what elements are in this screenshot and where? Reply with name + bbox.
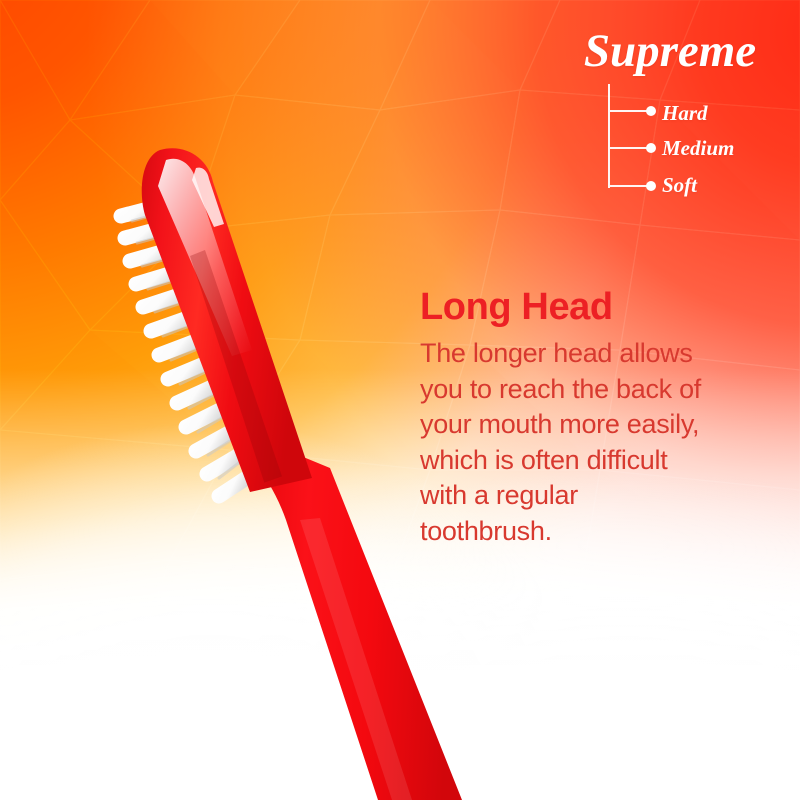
poster-canvas: Supreme Hard Medium Soft Long Head The l… [0, 0, 800, 800]
bristle-firmness-legend: Hard Medium Soft [596, 78, 800, 206]
legend-item-medium: Medium [662, 138, 734, 159]
feature-body-line: The longer head allows [420, 336, 750, 372]
feature-body-line: you to reach the back of [420, 372, 750, 408]
brand-title: Supreme [548, 28, 792, 75]
feature-body-line: with a regular [420, 478, 750, 514]
feature-block: Long Head The longer head allows you to … [420, 288, 750, 550]
feature-body-line: toothbrush. [420, 514, 750, 550]
legend-bullet-dots [646, 106, 656, 191]
feature-body-line: which is often difficult [420, 443, 750, 479]
legend-item-soft: Soft [662, 175, 697, 196]
feature-heading: Long Head [420, 288, 750, 328]
brand-block: Supreme [548, 28, 792, 75]
feature-body: The longer head allows you to reach the … [420, 336, 750, 550]
feature-body-line: your mouth more easily, [420, 407, 750, 443]
legend-item-hard: Hard [662, 103, 708, 124]
